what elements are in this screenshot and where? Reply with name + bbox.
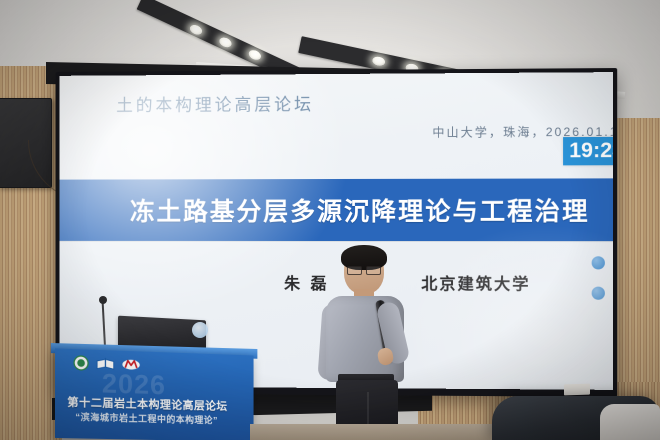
foreground-chair-secondary — [600, 404, 660, 440]
downlight-icon — [247, 48, 263, 62]
slide-kicker-text: 土的本构理论高层论坛 — [116, 90, 314, 116]
presenter-person — [316, 248, 420, 440]
slide-decor-dot-icon — [592, 287, 605, 300]
downlight-icon — [188, 23, 204, 37]
gooseneck-mic-head-icon — [99, 296, 107, 304]
slide-title-band: 冻土路基分层多源沉降理论与工程治理 — [59, 178, 613, 241]
downlight-icon — [218, 36, 234, 50]
podium-forum-subtitle: “滨海城市岩土工程中的本构理论” — [75, 410, 217, 426]
slide-decor-dot-icon — [592, 256, 605, 269]
glasses-icon — [347, 266, 381, 273]
slide-presenter-org: 北京建筑大学 — [421, 270, 530, 294]
university-seal-logo-icon — [73, 355, 88, 371]
slide-title: 冻土路基分层多源沉降理论与工程治理 — [130, 192, 590, 228]
screen-glare-secondary — [400, 224, 613, 390]
floor — [250, 424, 500, 440]
downlight-icon — [371, 55, 386, 67]
conference-photo: 土的本构理论高层论坛 中山大学，珠海，2026.01.12 19:23 冻土路基… — [0, 0, 660, 440]
video-timestamp-overlay: 19:23 — [563, 137, 613, 166]
laptop-logo-icon — [192, 322, 208, 338]
podium-panel: 2026 第十二届岩土本构理论高层论坛 “滨海城市岩土工程中的本构理论” — [55, 348, 254, 440]
wall-label-tag — [564, 384, 590, 396]
